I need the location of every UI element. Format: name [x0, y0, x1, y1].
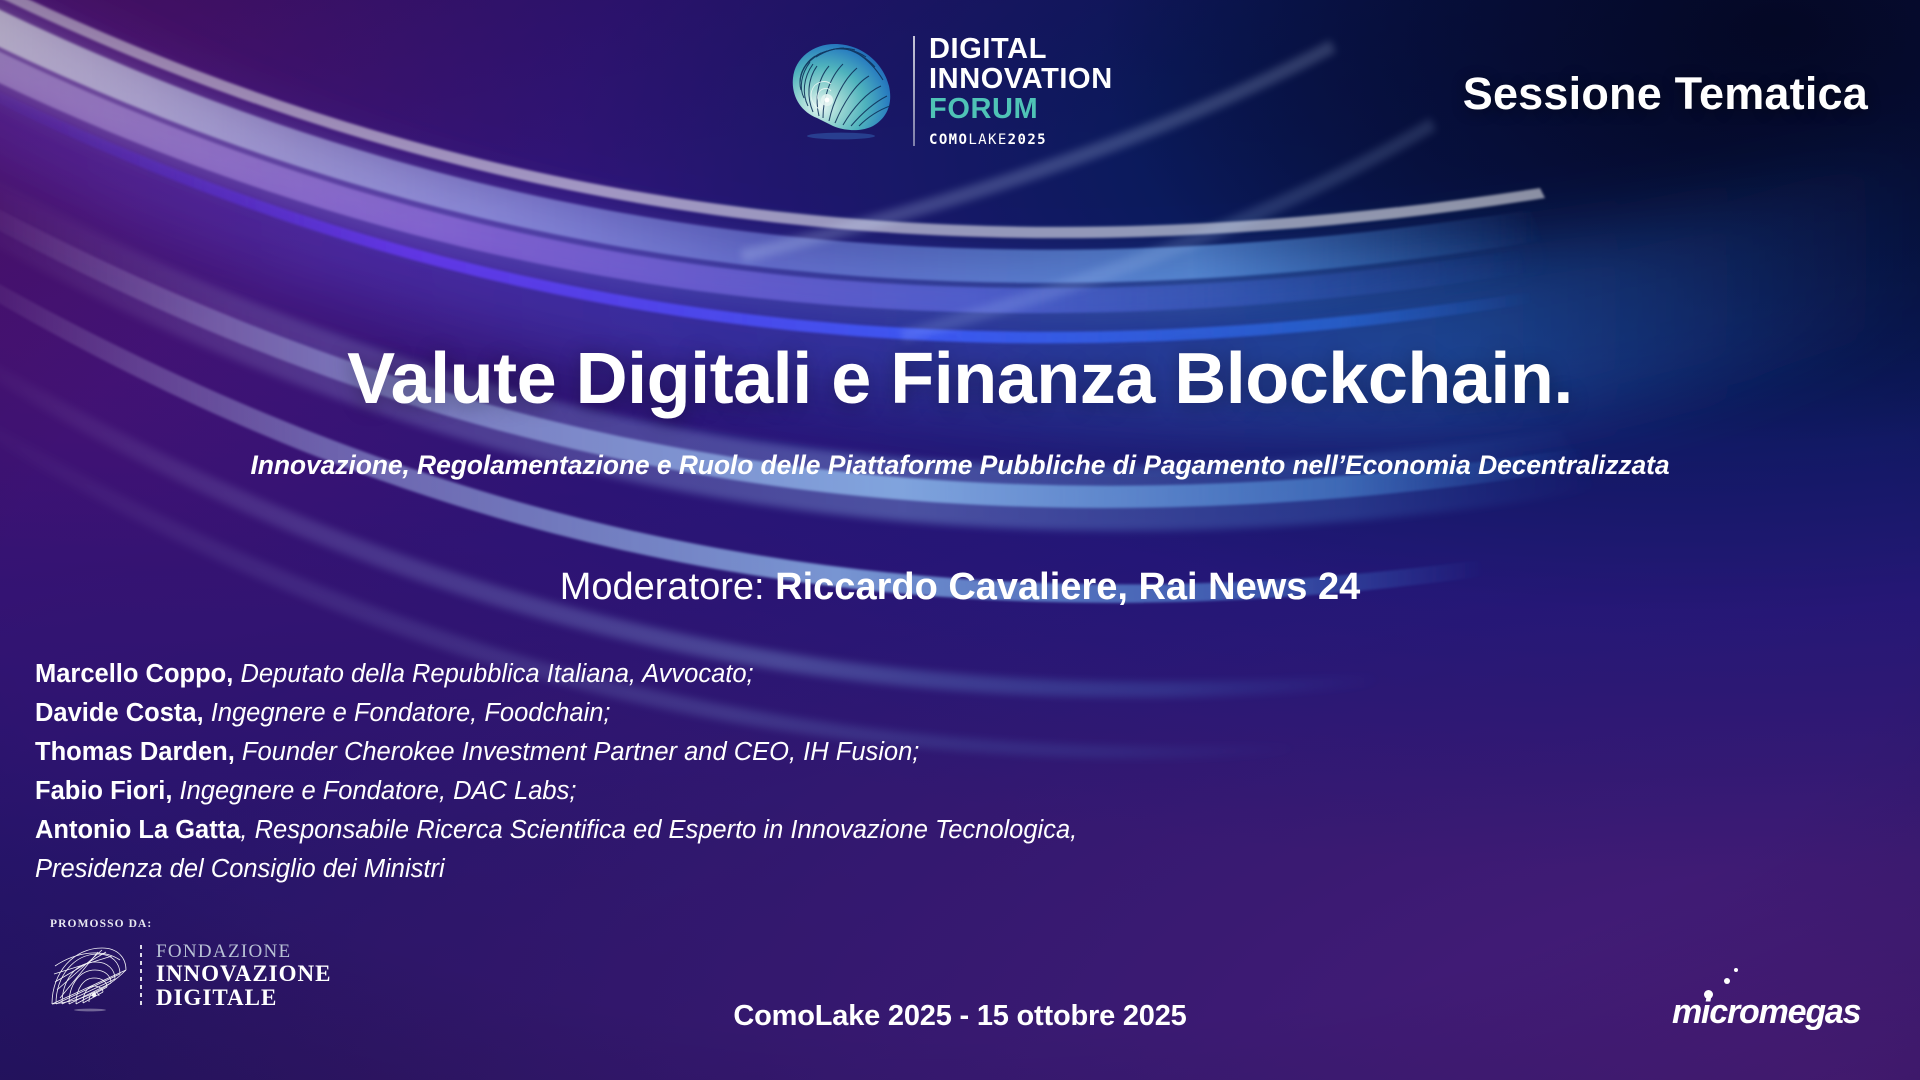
list-item: Thomas Darden, Founder Cherokee Investme… [35, 733, 1077, 772]
speaker-role: , Responsabile Ricerca Scientifica ed Es… [240, 816, 1077, 844]
list-item: Marcello Coppo, Deputato della Repubblic… [35, 655, 1077, 694]
moderator-line: Moderatore: Riccardo Cavaliere, Rai News… [0, 566, 1920, 609]
digital-innovation-forum-logo: DIGITAL INNOVATION FORUM COMOLAKE2025 [775, 32, 1113, 152]
logo-line-innovation: INNOVATION [929, 64, 1113, 94]
speaker-name: Davide Costa, [35, 699, 204, 727]
speaker-name: Fabio Fiori, [35, 777, 172, 805]
logo-wordmark: DIGITAL INNOVATION FORUM COMOLAKE2025 [929, 32, 1113, 148]
logo-line-digital: DIGITAL [929, 34, 1113, 64]
micromegas-dot-medium [1724, 978, 1730, 984]
logo-divider [913, 36, 915, 146]
promoter-divider [140, 945, 142, 1007]
speaker-role: Founder Cherokee Investment Partner and … [242, 738, 920, 766]
nautilus-shell-icon [775, 34, 905, 144]
session-type-label: Sessione Tematica [1463, 68, 1868, 120]
speaker-role: Ingegnere e Fondatore, DAC Labs; [180, 777, 577, 805]
edition-year: 2025 [1008, 132, 1047, 148]
speaker-name: Thomas Darden, [35, 738, 235, 766]
micromegas-dot-small [1734, 968, 1738, 972]
speaker-list: Marcello Coppo, Deputato della Repubblic… [35, 655, 1077, 889]
session-title: Valute Digitali e Finanza Blockchain. [0, 338, 1920, 420]
event-slide: DIGITAL INNOVATION FORUM COMOLAKE2025 Se… [0, 0, 1920, 1080]
edition-como: COMO [929, 132, 968, 148]
speaker-name: Antonio La Gatta [35, 816, 240, 844]
logo-edition-comolake2025: COMOLAKE2025 [929, 132, 1113, 148]
list-item: Fabio Fiori, Ingegnere e Fondatore, DAC … [35, 772, 1077, 811]
moderator-label: Moderatore: [560, 566, 765, 608]
micromegas-wordmark: micromegas [1672, 993, 1860, 1032]
list-item: Davide Costa, Ingegnere e Fondatore, Foo… [35, 694, 1077, 733]
speaker-name: Marcello Coppo, [35, 660, 233, 688]
session-subtitle: Innovazione, Regolamentazione e Ruolo de… [0, 450, 1920, 481]
logo-line-forum: FORUM [929, 94, 1113, 125]
event-date-footer: ComoLake 2025 - 15 ottobre 2025 [0, 1000, 1920, 1033]
speaker-role: Ingegnere e Fondatore, Foodchain; [211, 699, 611, 727]
micromegas-logo: micromegas [1672, 968, 1862, 1032]
edition-lake: LAKE [968, 132, 1007, 148]
fondazione-line2: INNOVAZIONE [156, 962, 331, 986]
speaker-role: Deputato della Repubblica Italiana, Avvo… [240, 660, 753, 688]
speaker-role-continuation: Presidenza del Consiglio dei Ministri [35, 850, 1077, 889]
moderator-name: Riccardo Cavaliere, Rai News 24 [775, 566, 1360, 608]
list-item: Antonio La Gatta, Responsabile Ricerca S… [35, 811, 1077, 850]
promoter-label: PROMOSSO DA: [50, 918, 331, 930]
fondazione-line1: FONDAZIONE [156, 942, 331, 962]
